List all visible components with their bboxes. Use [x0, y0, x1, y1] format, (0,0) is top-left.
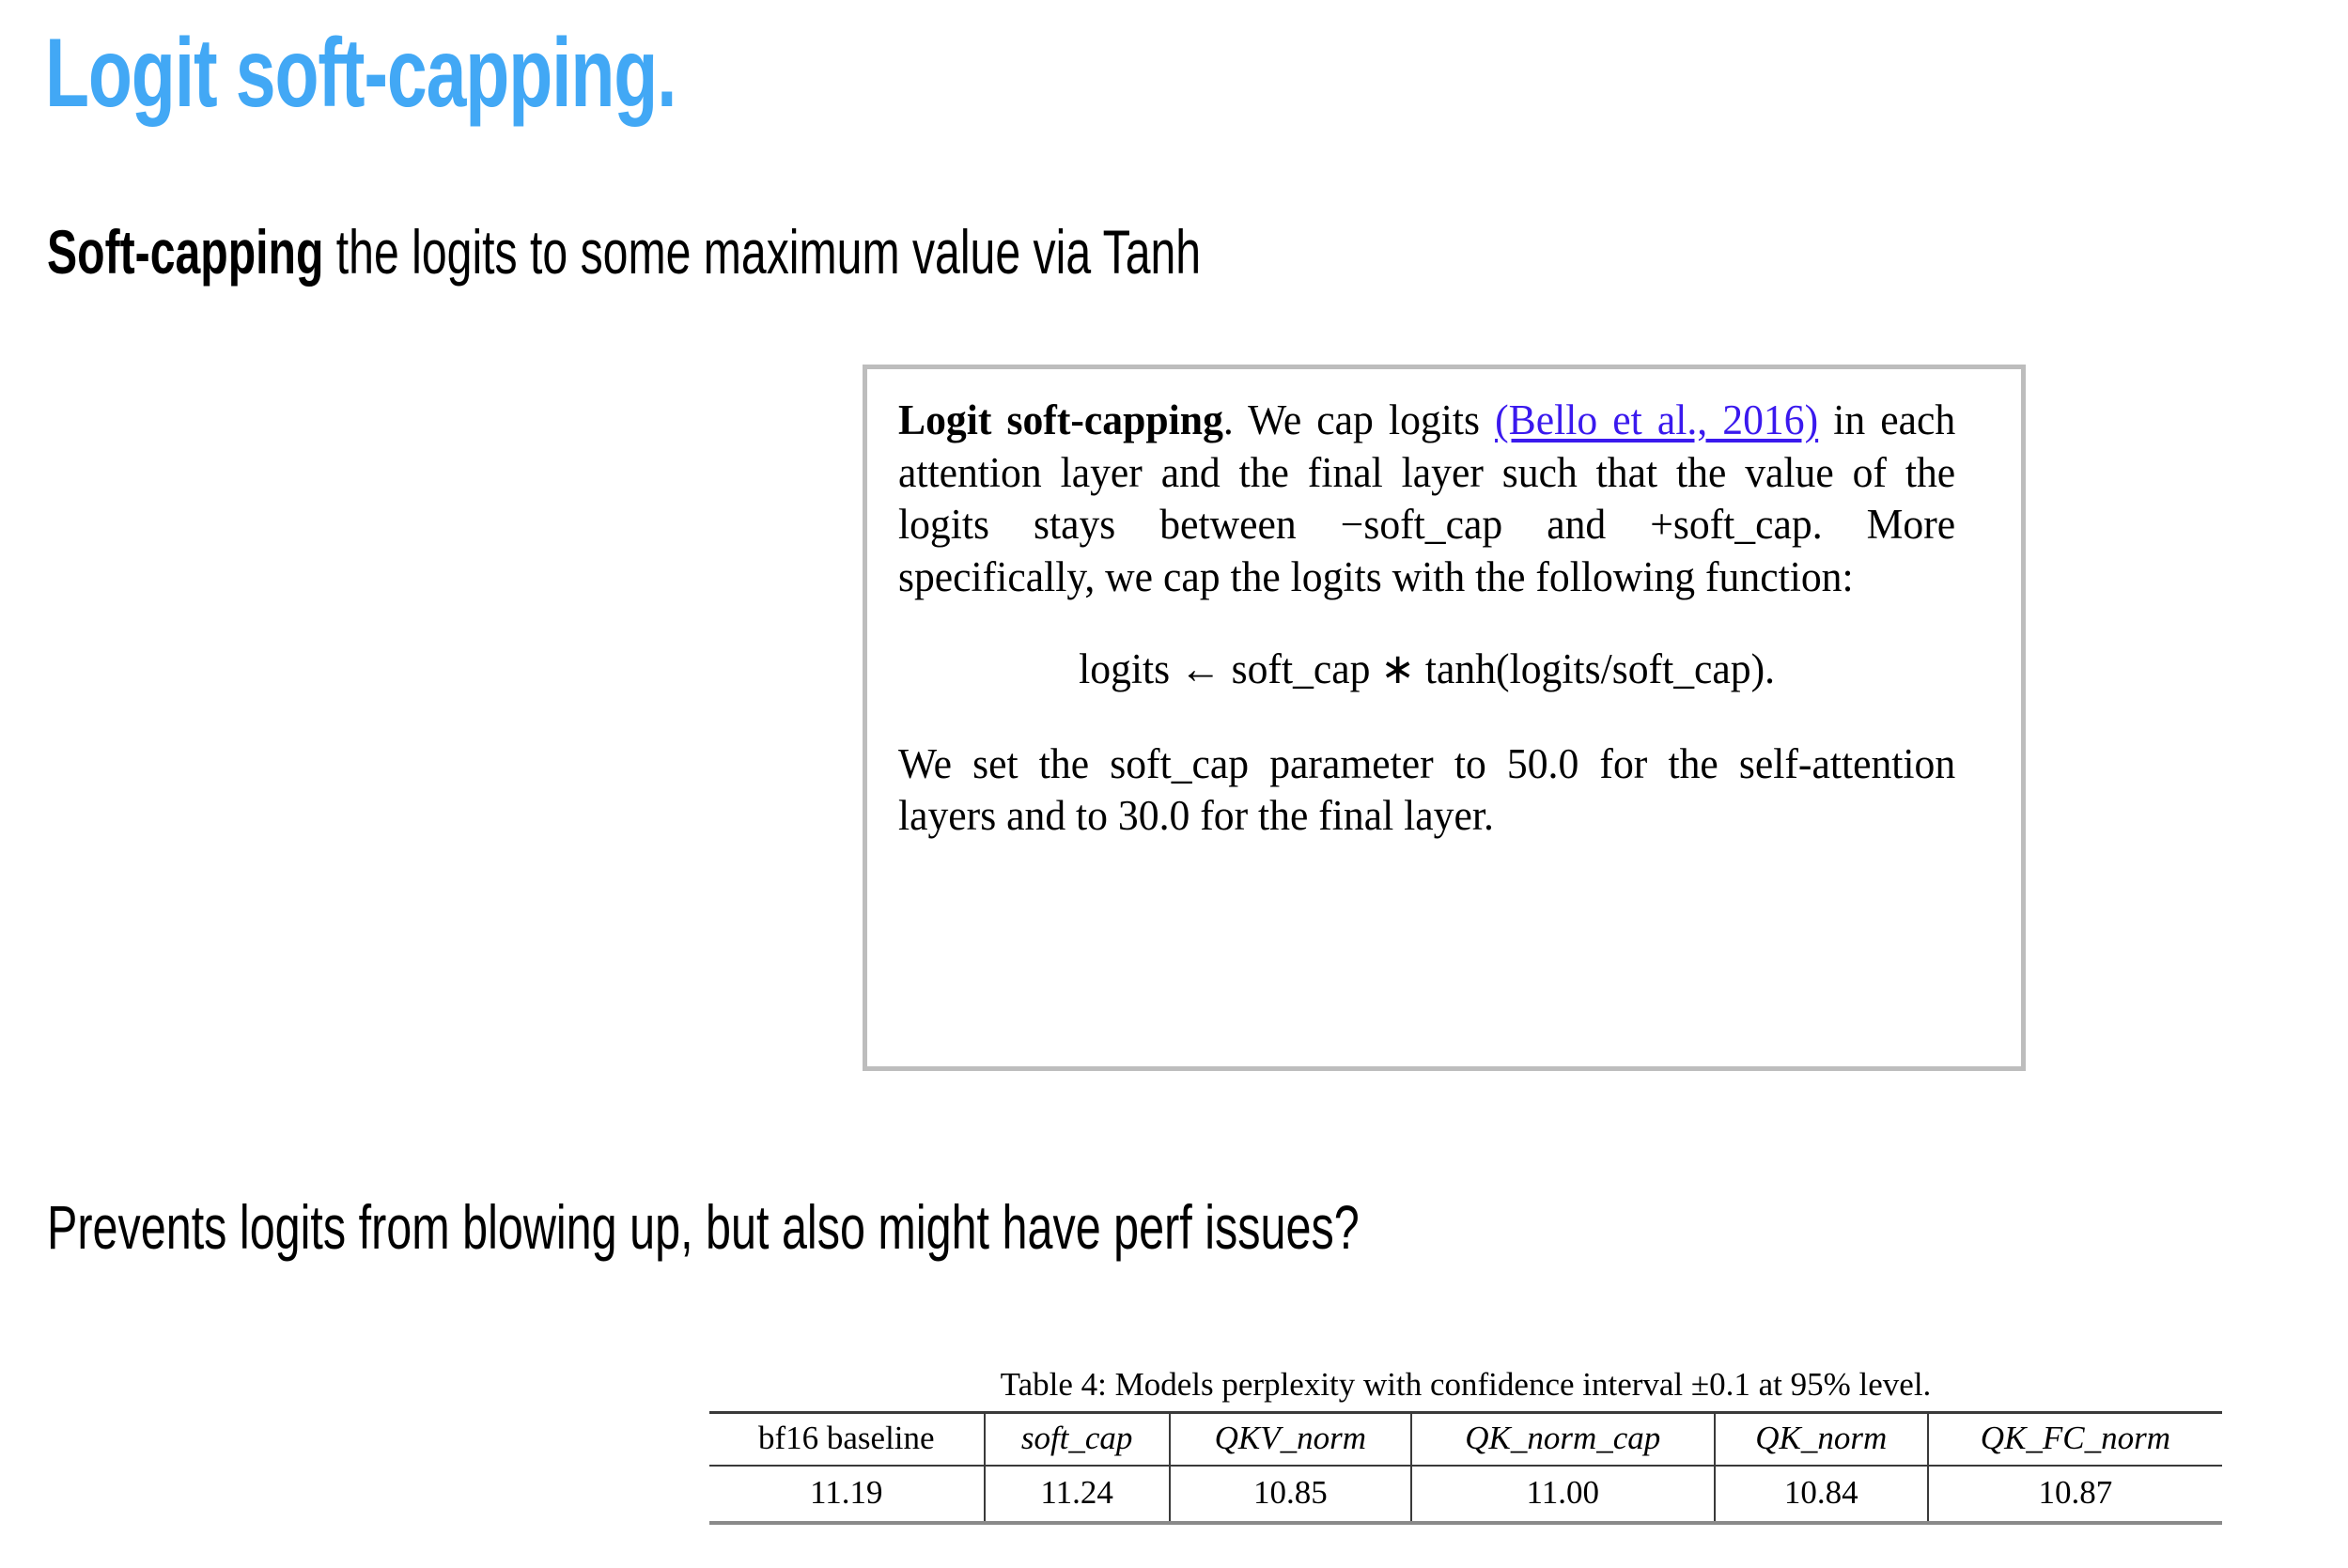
paper-excerpt-paragraph-2: We set the soft_cap parameter to 50.0 fo…	[898, 738, 1955, 843]
paper-excerpt-box: Logit soft-capping. We cap logits (Bello…	[863, 365, 2026, 1071]
paper-excerpt-paragraph-1: Logit soft-capping. We cap logits (Bello…	[898, 395, 1955, 603]
closing-statement: Prevents logits from blowing up, but als…	[47, 1193, 1704, 1262]
page-title: Logit soft-capping.	[45, 21, 1644, 126]
citation-link[interactable]: (Bello et al., 2016)	[1495, 396, 1818, 443]
soft-cap-formula: logits ← soft_cap ∗ tanh(logits/soft_cap…	[898, 644, 1955, 696]
table-column-header: bf16 baseline	[709, 1412, 985, 1466]
paper-excerpt-lead: Logit soft-capping	[898, 396, 1223, 443]
table-body: 11.1911.2410.8511.0010.8410.87	[709, 1466, 2222, 1523]
paper-excerpt-text-before-citation: . We cap logits	[1223, 396, 1495, 443]
table-caption: Table 4: Models perplexity with confiden…	[709, 1364, 2222, 1405]
subtitle-remainder: the logits to some maximum value via Tan…	[323, 217, 1201, 287]
perplexity-table-block: Table 4: Models perplexity with confiden…	[709, 1364, 2222, 1525]
paper-excerpt-body: Logit soft-capping. We cap logits (Bello…	[867, 369, 1986, 843]
subtitle-line: Soft-capping the logits to some maximum …	[47, 218, 1659, 287]
table-column-header: soft_cap	[985, 1412, 1170, 1466]
table-header-row: bf16 baselinesoft_capQKV_normQK_norm_cap…	[709, 1412, 2222, 1466]
subtitle-emphasis: Soft-capping	[47, 217, 323, 287]
table-cell: 11.24	[985, 1466, 1170, 1523]
table-cell: 11.19	[709, 1466, 985, 1523]
table-cell: 10.84	[1715, 1466, 1928, 1523]
table-column-header: QK_norm_cap	[1411, 1412, 1715, 1466]
table-cell: 11.00	[1411, 1466, 1715, 1523]
table-row: 11.1911.2410.8511.0010.8410.87	[709, 1466, 2222, 1523]
table-column-header: QK_norm	[1715, 1412, 1928, 1466]
perplexity-table: bf16 baselinesoft_capQKV_normQK_norm_cap…	[709, 1411, 2222, 1525]
table-cell: 10.87	[1928, 1466, 2222, 1523]
table-column-header: QKV_norm	[1170, 1412, 1411, 1466]
table-header: bf16 baselinesoft_capQKV_normQK_norm_cap…	[709, 1412, 2222, 1466]
table-column-header: QK_FC_norm	[1928, 1412, 2222, 1466]
table-cell: 10.85	[1170, 1466, 1411, 1523]
